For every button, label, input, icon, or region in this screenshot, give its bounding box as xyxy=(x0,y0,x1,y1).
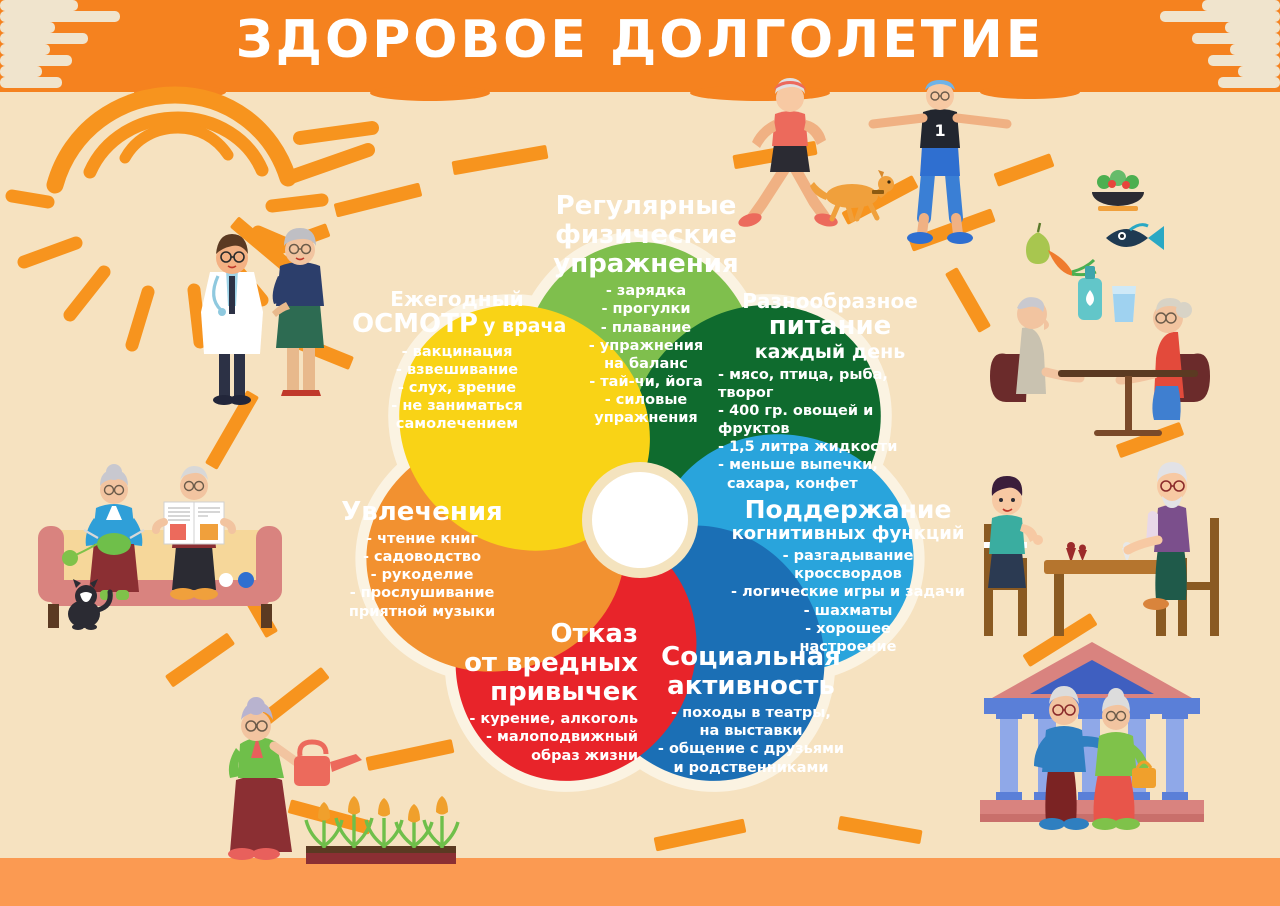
petal-list-medical-checkup: - вакцинация - взвешивание - слух, зрени… xyxy=(352,343,562,434)
list-item: - взвешивание xyxy=(352,361,562,379)
petal-list-cognitive-functions: - разгадывание кроссвордов - логические … xyxy=(730,547,966,656)
list-item: - разгадывание кроссвордов xyxy=(730,547,966,583)
list-item: - слух, зрение xyxy=(352,379,562,397)
list-item: - курение, алкоголь xyxy=(452,710,638,728)
list-item: - логические игры и задачи xyxy=(730,583,966,601)
list-item: образ жизни xyxy=(452,747,638,765)
list-item: - малоподвижный xyxy=(452,728,638,746)
petal-list-hobbies: - чтение книг - садоводство - рукоделие … xyxy=(318,530,526,621)
footer-band xyxy=(0,858,1280,906)
petal-text-cognitive-functions: Поддержание когнитивных функций - разгад… xyxy=(730,496,966,656)
petal-heading-tail-physical-exercise: упражнения xyxy=(548,250,744,279)
petal-text-nutrition: Разнообразное питание каждый день - мясо… xyxy=(714,290,946,493)
petal-heading-small-medical-checkup: Ежегодный xyxy=(352,288,562,310)
petal-text-hobbies: Увлечения - чтение книг - садоводство - … xyxy=(318,498,526,621)
petal-heading-large-physical-exercise: физические xyxy=(548,221,744,250)
petal-text-bad-habits: Отказ от вредных привычек - курение, алк… xyxy=(452,620,638,765)
petal-text-social-activity: Социальная активность - походы в театры,… xyxy=(640,643,862,777)
list-item: - меньше выпечки, xyxy=(718,456,946,474)
list-item: - шахматы xyxy=(730,602,966,620)
petal-heading-tail-cognitive-functions: когнитивных функций xyxy=(730,524,966,544)
list-item: - 1,5 литра жидкости xyxy=(718,438,946,456)
petal-heading-tail-bad-habits: от вредных привычек xyxy=(452,649,638,707)
petal-heading-large-bad-habits: Отказ xyxy=(452,620,638,649)
list-item: - общение с друзьями xyxy=(640,740,862,758)
petal-heading-large-nutrition: питание xyxy=(714,312,946,341)
list-item: сахара, конфет xyxy=(718,475,946,493)
list-item: - чтение книг xyxy=(318,530,526,548)
list-item: - походы в театры, xyxy=(640,704,862,722)
poster-canvas: 1 xyxy=(0,0,1280,906)
petal-heading-large-social-activity: Социальная xyxy=(640,643,862,672)
list-item: - прослушивание xyxy=(318,584,526,602)
list-item: на выставки xyxy=(640,722,862,740)
list-item: - не заниматься xyxy=(352,397,562,415)
petal-heading-large-cognitive-functions: Поддержание xyxy=(730,496,966,524)
page-title: ЗДОРОВОЕ ДОЛГОЛЕТИЕ xyxy=(0,14,1280,66)
petal-text-medical-checkup: Ежегодный ОСМОТР у врача - вакцинация - … xyxy=(352,288,562,433)
petal-list-nutrition: - мясо, птица, рыба, творог - 400 гр. ов… xyxy=(714,366,946,493)
list-item: - садоводство xyxy=(318,548,526,566)
petal-heading-tail-nutrition: каждый день xyxy=(714,342,946,363)
list-item: приятной музыки xyxy=(318,603,526,621)
petal-list-social-activity: - походы в театры, на выставки - общение… xyxy=(640,704,862,777)
list-item: - рукоделие xyxy=(318,566,526,584)
petal-heading-tail-social-activity: активность xyxy=(640,672,862,701)
petal-heading-small-nutrition: Разнообразное xyxy=(714,290,946,312)
list-item: - 400 гр. овощей и фруктов xyxy=(718,402,946,438)
list-item: - мясо, птица, рыба, творог xyxy=(718,366,946,402)
petal-heading-large-hobbies: Увлечения xyxy=(318,498,526,527)
list-item: - хорошее xyxy=(730,620,966,638)
list-item: - вакцинация xyxy=(352,343,562,361)
list-item: самолечением xyxy=(352,415,562,433)
jersey-number: 1 xyxy=(934,121,945,140)
hub-center xyxy=(592,472,688,568)
petal-list-bad-habits: - курение, алкоголь - малоподвижный обра… xyxy=(452,710,638,764)
petal-heading-small-physical-exercise: Регулярные xyxy=(548,192,744,221)
petal-heading-large-medical-checkup: ОСМОТР xyxy=(352,309,478,339)
list-item: и родственниками xyxy=(640,759,862,777)
